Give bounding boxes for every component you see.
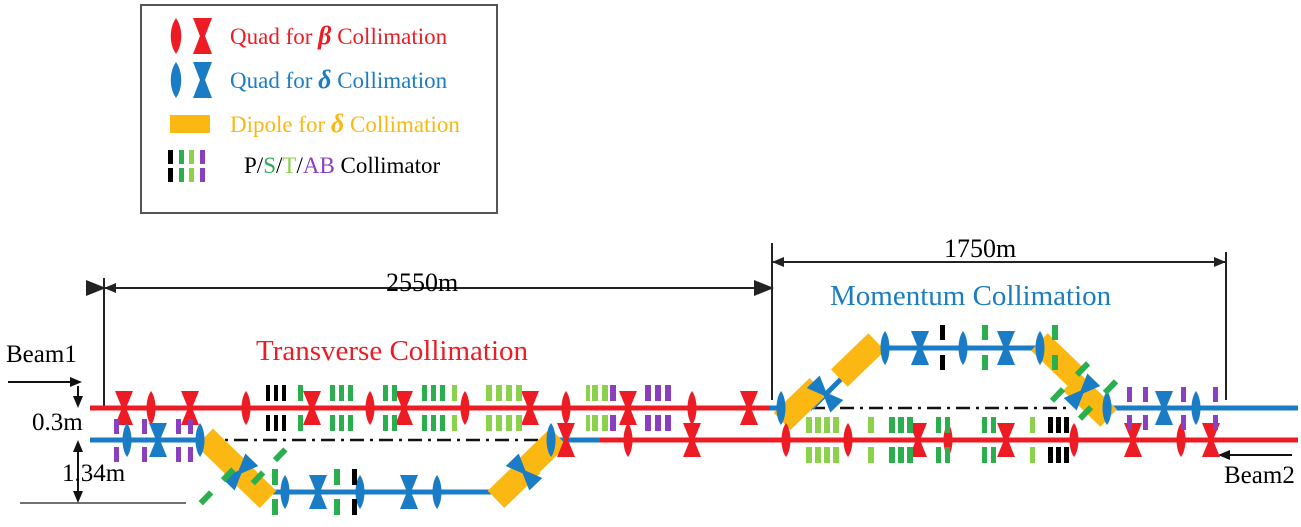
legend: Quad for β Collimation Quad for δ Collim… bbox=[140, 4, 498, 214]
section-label-transverse: Transverse Collimation bbox=[256, 335, 528, 368]
dipole-yellow-icon bbox=[160, 102, 222, 146]
beam1-arrow bbox=[8, 377, 82, 387]
legend-row-dipole-delta: Dipole for δ Collimation bbox=[142, 102, 496, 146]
legend-row-collimator: P/S/T/AB Collimator bbox=[142, 144, 496, 188]
gap-label-0p3m: 0.3m bbox=[32, 409, 83, 437]
legend-row-quad-beta: Quad for β Collimation bbox=[142, 14, 496, 58]
legend-label-collimator: P/S/T/AB Collimator bbox=[244, 144, 440, 188]
drop-label-1p34m: 1.34m bbox=[62, 460, 125, 488]
beam2-arrow bbox=[1218, 450, 1292, 460]
diagram-stage: Quad for β Collimation Quad for δ Collim… bbox=[0, 0, 1301, 527]
beam2-label: Beam2 bbox=[1224, 462, 1295, 490]
quad-pair-blue-icon bbox=[160, 58, 222, 102]
dimension-label-transverse: 2550m bbox=[386, 268, 458, 298]
section-label-momentum: Momentum Collimation bbox=[830, 280, 1111, 313]
collimator-bars-icon bbox=[160, 144, 222, 188]
quad-pair-red-icon bbox=[160, 14, 222, 58]
beam1-label: Beam1 bbox=[6, 341, 77, 369]
legend-label-quad-beta: Quad for β Collimation bbox=[230, 14, 447, 58]
dimension-label-momentum: 1750m bbox=[944, 234, 1016, 264]
legend-label-quad-delta: Quad for δ Collimation bbox=[230, 58, 447, 102]
legend-row-quad-delta: Quad for δ Collimation bbox=[142, 58, 496, 102]
legend-label-dipole-delta: Dipole for δ Collimation bbox=[230, 102, 460, 146]
